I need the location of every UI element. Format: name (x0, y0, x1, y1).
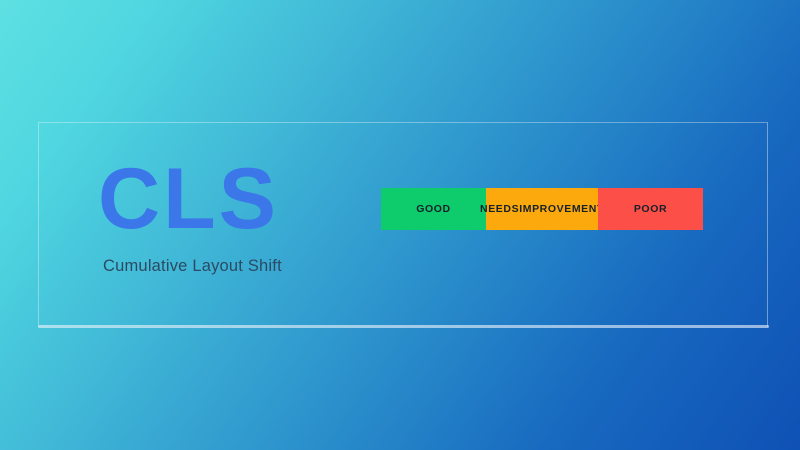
scale-segment-good: GOOD (381, 188, 486, 230)
scale-segment-poor: POOR (598, 188, 703, 230)
page-subtitle: Cumulative Layout Shift (103, 256, 358, 276)
slide-canvas: CLS Cumulative Layout Shift GOOD NEEDS I… (0, 0, 800, 450)
decorative-baseline (38, 325, 769, 328)
scale-segment-needs-improvement-line2: IMPROVEMENT (519, 203, 604, 216)
page-title: CLS (98, 152, 358, 246)
scale-bar: GOOD NEEDS IMPROVEMENT POOR (381, 188, 703, 230)
scale-segment-needs-improvement-line1: NEEDS (480, 203, 519, 216)
cls-threshold-scale: GOOD NEEDS IMPROVEMENT POOR 0.1 0.25 (381, 188, 703, 230)
title-block: CLS Cumulative Layout Shift (98, 152, 358, 276)
scale-segment-needs-improvement: NEEDS IMPROVEMENT (486, 188, 598, 230)
